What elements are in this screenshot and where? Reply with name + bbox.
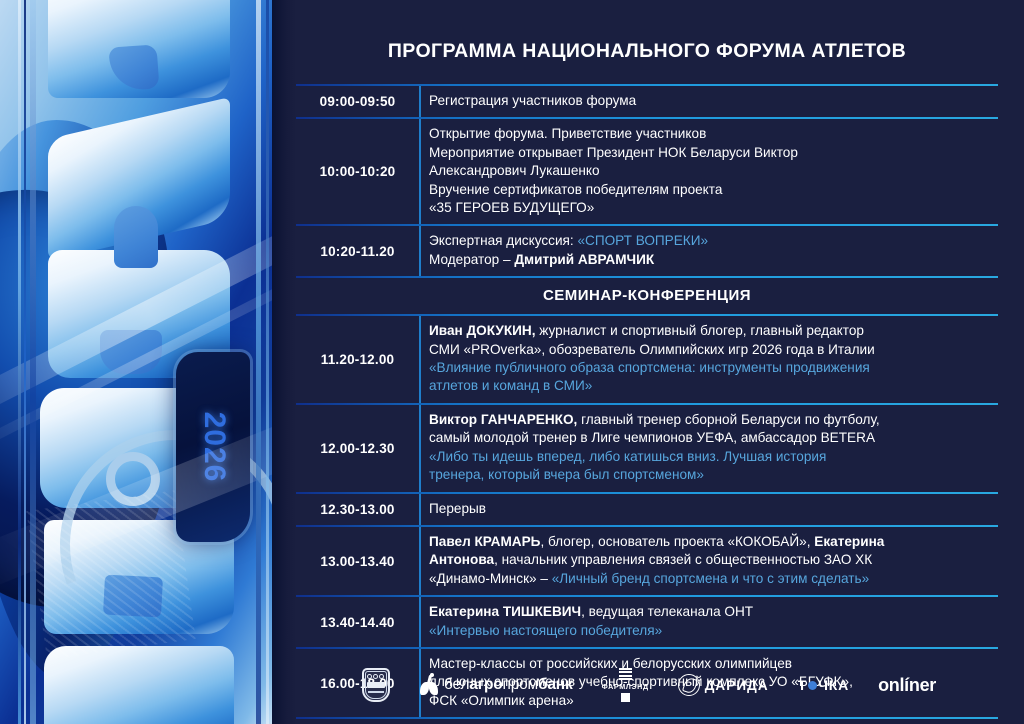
sponsor-logo-darida[interactable]: ДАРИДА: [678, 674, 769, 696]
row-divider: [296, 717, 998, 719]
artwork-counter-2: [114, 206, 158, 268]
schedule-section-header: СЕМИНАР-КОНФЕРЕНЦИЯ: [296, 278, 998, 314]
schedule-row-line: Перерыв: [429, 500, 992, 518]
schedule-row-time: 11.20-12.00: [296, 316, 419, 403]
page-title: ПРОГРАММА НАЦИОНАЛЬНОГО ФОРУМА АТЛЕТОВ: [296, 40, 998, 63]
description-text: , ведущая телеканала ОНТ: [581, 604, 753, 619]
schedule-row-time: 10:00-10:20: [296, 119, 419, 224]
description-text: Мероприятие открывает Президент НОК Бела…: [429, 145, 798, 160]
schedule-row-line: Павел КРАМАРЬ, блогер, основатель проект…: [429, 533, 992, 551]
leaf-sprout-icon: [419, 673, 439, 697]
artwork-seam: [272, 0, 296, 724]
schedule-row-description: Регистрация участников форума: [419, 86, 998, 117]
schedule-row-line: «Динамо-Минск» – «Личный бренд спортсмен…: [429, 570, 992, 588]
description-text: Перерыв: [429, 501, 486, 516]
talk-title: тренера, который вчера был спортсменом»: [429, 467, 704, 482]
description-text: , начальник управления связей с обществе…: [494, 552, 872, 567]
schedule-row-time: 10:20-11.20: [296, 226, 419, 276]
description-text: Александрович Лукашенко: [429, 163, 600, 178]
sponsor-logo-tochka[interactable]: ТЧКА: [798, 677, 849, 693]
schedule-row-line: Иван ДОКУКИН, журналист и спортивный бло…: [429, 322, 992, 340]
speaker-name: Виктор ГАНЧАРЕНКО,: [429, 412, 577, 427]
talk-title: «Личный бренд спортсмена и что с этим сд…: [552, 571, 869, 586]
description-text: «35 ГЕРОЕВ БУДУЩЕГО»: [429, 200, 594, 215]
sponsor-logo-farmland[interactable]: ФАРМЛЭНД: [602, 668, 649, 703]
schedule-row-line: Регистрация участников форума: [429, 92, 992, 110]
schedule-row-description: Екатерина ТИШКЕВИЧ, ведущая телеканала О…: [419, 597, 998, 647]
talk-title: «Интервью настоящего победителя»: [429, 623, 662, 638]
sponsor-label: ФАРМЛЭНД: [602, 682, 649, 691]
description-text: журналист и спортивный блогер, главный р…: [536, 323, 864, 338]
schedule-row: 09:00-09:50Регистрация участников форума: [296, 86, 998, 117]
olympic-shield-icon: [362, 668, 390, 702]
schedule-row-time: 09:00-09:50: [296, 86, 419, 117]
schedule-row-description: Иван ДОКУКИН, журналист и спортивный бло…: [419, 316, 998, 403]
schedule-row-line: Открытие форума. Приветствие участников: [429, 125, 992, 143]
sponsor-bar: белагропромбанкФАРМЛЭНДДАРИДАТЧКАonlíner: [296, 662, 998, 708]
sponsor-label-part: агро: [469, 676, 502, 693]
sponsor-logo-noc-belarus[interactable]: [362, 668, 390, 702]
schedule-row-description: Экспертная дискуссия: «СПОРТ ВОПРЕКИ»Мод…: [419, 226, 998, 276]
schedule-row-line: Александрович Лукашенко: [429, 162, 992, 180]
artwork-edge-highlight-4: [256, 0, 261, 724]
schedule-row-description: Виктор ГАНЧАРЕНКО, главный тренер сборно…: [419, 405, 998, 492]
sponsor-label: белагропромбанк: [444, 676, 573, 694]
schedule-row-line: тренера, который вчера был спортсменом»: [429, 466, 992, 484]
artwork-edge-highlight-5: [266, 0, 269, 724]
description-text: Открытие форума. Приветствие участников: [429, 126, 706, 141]
schedule-section-label: СЕМИНАР-КОНФЕРЕНЦИЯ: [296, 287, 998, 304]
schedule-row: 10:00-10:20Открытие форума. Приветствие …: [296, 119, 998, 224]
speaker-name: Екатерина: [814, 534, 884, 549]
schedule-row: 10:20-11.20Экспертная дискуссия: «СПОРТ …: [296, 226, 998, 276]
sponsor-label-part: бел: [444, 676, 469, 693]
schedule-row: 12.00-12.30Виктор ГАНЧАРЕНКО, главный тр…: [296, 405, 998, 492]
speaker-name: Антонова: [429, 552, 494, 567]
description-text: Вручение сертификатов победителям проект…: [429, 182, 722, 197]
schedule-row-line: Екатерина ТИШКЕВИЧ, ведущая телеканала О…: [429, 603, 992, 621]
sponsor-label-part: банк: [538, 676, 573, 693]
schedule-row-line: «Либо ты идешь вперед, либо катишься вни…: [429, 448, 992, 466]
artwork-edge-highlight-3: [30, 0, 36, 724]
schedule-row-description: Перерыв: [419, 494, 998, 525]
schedule-row-line: Мероприятие открывает Президент НОК Бела…: [429, 144, 992, 162]
speaker-name: Екатерина ТИШКЕВИЧ: [429, 604, 581, 619]
speaker-name: Дмитрий АВРАМЧИК: [514, 252, 654, 267]
artwork-edge-highlight-1: [18, 0, 21, 724]
description-text: главный тренер сборной Беларуси по футбо…: [577, 412, 879, 427]
square-icon: [621, 693, 630, 702]
talk-title: «Влияние публичного образа спортсмена: и…: [429, 360, 870, 375]
schedule-row-line: СМИ «PROverka», обозреватель Олимпийских…: [429, 341, 992, 359]
sponsor-label-part: пром: [503, 676, 539, 693]
sponsor-label: ДАРИДА: [705, 678, 769, 693]
schedule-row-line: Модератор – Дмитрий АВРАМЧИК: [429, 251, 992, 269]
sponsor-logo-onliner[interactable]: onlíner: [878, 675, 936, 696]
talk-title: атлетов и команд в СМИ»: [429, 378, 592, 393]
description-text: Регистрация участников форума: [429, 93, 636, 108]
schedule-row-line: самый молодой тренер в Лиге чемпионов УЕ…: [429, 429, 992, 447]
schedule-row-line: «35 ГЕРОЕВ БУДУЩЕГО»: [429, 199, 992, 217]
sponsor-label-group: ФАРМЛЭНД: [602, 668, 649, 703]
water-swirl-icon: [678, 674, 700, 696]
description-text: СМИ «PROverka», обозреватель Олимпийских…: [429, 342, 875, 357]
schedule-row-description: Павел КРАМАРЬ, блогер, основатель проект…: [419, 527, 998, 595]
description-text: Модератор –: [429, 252, 514, 267]
schedule-row: 13.00-13.40Павел КРАМАРЬ, блогер, основа…: [296, 527, 998, 595]
sponsor-label: onlíner: [878, 675, 936, 696]
sponsor-label-part: ЧКА: [818, 677, 849, 693]
schedule-row-line: Антонова, начальник управления связей с …: [429, 551, 992, 569]
program-content: ПРОГРАММА НАЦИОНАЛЬНОГО ФОРУМА АТЛЕТОВ 0…: [296, 0, 1024, 724]
schedule-row: 11.20-12.00Иван ДОКУКИН, журналист и спо…: [296, 316, 998, 403]
schedule-row-line: атлетов и команд в СМИ»: [429, 377, 992, 395]
sponsor-logo-belagroprombank[interactable]: белагропромбанк: [419, 673, 573, 697]
sponsor-label-part: Т: [798, 677, 807, 693]
schedule-table: 09:00-09:50Регистрация участников форума…: [296, 84, 998, 719]
schedule-row-time: 12.00-12.30: [296, 405, 419, 492]
talk-title: «СПОРТ ВОПРЕКИ»: [577, 233, 708, 248]
artwork-letterform-6: [44, 646, 234, 724]
artwork-edge-highlight-2: [24, 0, 26, 724]
schedule-row-line: «Влияние публичного образа спортсмена: и…: [429, 359, 992, 377]
sponsor-label: ТЧКА: [798, 677, 849, 693]
talk-title: «Либо ты идешь вперед, либо катишься вни…: [429, 449, 826, 464]
schedule-row-time: 13.40-14.40: [296, 597, 419, 647]
speaker-name: Павел КРАМАРЬ: [429, 534, 540, 549]
speaker-name: Иван ДОКУКИН,: [429, 323, 536, 338]
schedule-row-line: Экспертная дискуссия: «СПОРТ ВОПРЕКИ»: [429, 232, 992, 250]
dot-icon: [808, 681, 817, 690]
schedule-row: 13.40-14.40Екатерина ТИШКЕВИЧ, ведущая т…: [296, 597, 998, 647]
description-text: «Динамо-Минск» –: [429, 571, 552, 586]
schedule-row-line: Вручение сертификатов победителям проект…: [429, 181, 992, 199]
schedule-row-description: Открытие форума. Приветствие участниковМ…: [419, 119, 998, 224]
schedule-row-line: Виктор ГАНЧАРЕНКО, главный тренер сборно…: [429, 411, 992, 429]
stacked-bars-icon: [619, 668, 632, 681]
description-text: Экспертная дискуссия:: [429, 233, 577, 248]
schedule-row: 12.30-13.00Перерыв: [296, 494, 998, 525]
decorative-artwork-panel: 2026: [0, 0, 276, 724]
schedule-row-time: 12.30-13.00: [296, 494, 419, 525]
schedule-row-time: 13.00-13.40: [296, 527, 419, 595]
description-text: , блогер, основатель проекта «КОКОБАЙ»,: [540, 534, 814, 549]
description-text: самый молодой тренер в Лиге чемпионов УЕ…: [429, 430, 875, 445]
schedule-row-line: «Интервью настоящего победителя»: [429, 622, 992, 640]
